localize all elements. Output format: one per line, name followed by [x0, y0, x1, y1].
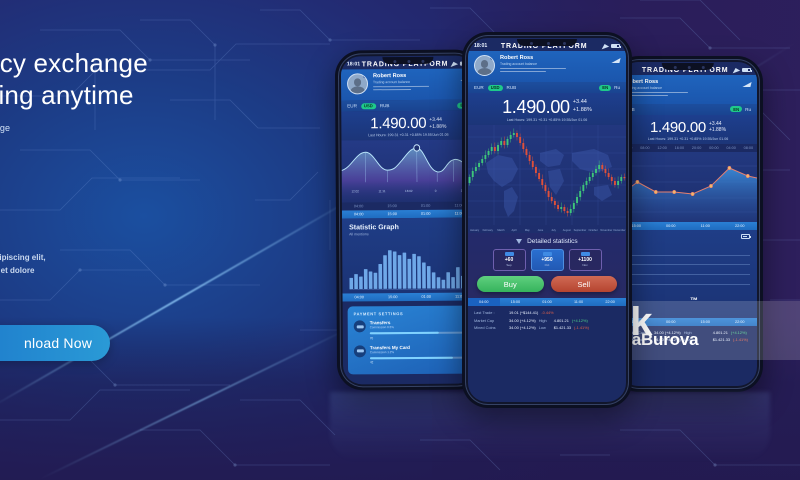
card-icon	[354, 320, 366, 332]
list-item[interactable]: Transfers Commission 0.5% 70	[354, 320, 466, 340]
avatar[interactable]	[347, 73, 368, 94]
phone-center-notch	[517, 39, 577, 46]
battery-icon	[742, 68, 751, 73]
row-value-2: $1.421.33	[554, 325, 571, 330]
last-hours: Last Hours: 199.31 +0.31 +0.85% 19.55/Ju…	[475, 118, 619, 122]
phone-right-area-chart[interactable]	[619, 152, 757, 222]
row-extra: -0.44%	[541, 310, 553, 315]
hero-lorem-line-1: , consectetur adipiscing elit,	[0, 252, 268, 264]
stat-card-sep[interactable]: +60 Sep	[493, 249, 526, 271]
axis-tick[interactable]: 22:00	[594, 298, 626, 306]
hero-copy: urrency exchange , trading anytime ons f…	[0, 48, 268, 277]
stat-card-month: Nov	[570, 263, 601, 267]
currency-rub[interactable]: RUB	[380, 103, 390, 108]
phone-right-user-header: Robert Ross Trading account balance	[619, 75, 757, 104]
phone-left[interactable]: 18:01 TRADING PLATFORM Robert Ross Tradi…	[335, 49, 483, 390]
payment-desc: Commission 1.2%	[370, 349, 466, 354]
lang-pill[interactable]: EN	[599, 85, 611, 91]
detailed-statistics-title: Detailed statistics	[468, 233, 626, 249]
currency-eur[interactable]: EUR	[347, 103, 357, 108]
payment-settings-title: PAYMENT SETTINGS	[354, 311, 466, 317]
user-name: Robert Ross	[373, 73, 469, 80]
row-label: Last Trade :	[474, 310, 506, 315]
axis-tick: 20:00	[688, 144, 705, 152]
phone-left-axis-top[interactable]: 04:00 15:00 01:00 11:00	[342, 210, 476, 219]
phone-left-user-header: Robert Ross Trading account balance	[341, 69, 475, 101]
status-icons	[732, 68, 751, 73]
stat-cards[interactable]: +60 Sep +950 Oct +1100 Nov	[468, 249, 626, 276]
row-extra: (-1.41%)	[574, 325, 589, 330]
payment-slider[interactable]	[370, 332, 466, 335]
sell-button[interactable]: Sell	[551, 276, 618, 292]
wifi-icon	[601, 43, 609, 50]
tick-label: 16:02	[395, 189, 422, 193]
tick-label: 12:02	[342, 189, 369, 193]
wifi-icon	[450, 60, 458, 67]
stat-card-month: Oct	[532, 263, 563, 267]
axis-tick[interactable]: 11:00	[688, 222, 723, 230]
row-label-2: Low	[539, 325, 551, 330]
phone-left-quote: 1.490.00 +3.44 +1.88% Last Hours: 199.31…	[341, 111, 475, 141]
price-value: 1.490.00	[370, 116, 426, 131]
lang-pill[interactable]: EN	[730, 106, 742, 112]
axis-tick[interactable]: 15:00	[375, 210, 409, 218]
headline-line-1: urrency exchange	[0, 48, 148, 78]
world-map-backdrop	[486, 149, 612, 217]
currency-eur[interactable]: EUR	[474, 85, 484, 90]
axis-tick: January	[468, 229, 481, 232]
battery-icon	[611, 44, 620, 49]
row-value: 34.00 (+4.12%)	[509, 325, 536, 330]
detail-title-text: Detailed statistics	[527, 238, 578, 245]
axis-tick: 04:00	[723, 144, 740, 152]
download-now-button[interactable]: nload Now	[0, 325, 110, 361]
axis-tick[interactable]: 04:00	[342, 210, 376, 218]
status-time: 18:01	[474, 43, 487, 49]
chart-icon	[516, 239, 522, 244]
stat-card-oct[interactable]: +950 Oct	[531, 249, 564, 271]
last-hours: Last Hours: 199.31 +0.31 +0.85% 19.55/Ju…	[348, 133, 468, 138]
axis-tick: June	[534, 229, 547, 232]
stat-card-nov[interactable]: +1100 Nov	[569, 249, 602, 271]
header-bars	[500, 68, 620, 72]
delta-pct: +1.88%	[429, 123, 446, 130]
phone-center-candlestick-chart[interactable]: January February March April May June Ju…	[468, 125, 626, 233]
row-label: Mined Coins	[474, 325, 506, 330]
axis-tick: April	[508, 229, 521, 232]
watermark-tm: ™	[690, 296, 698, 305]
send-icon[interactable]	[742, 82, 751, 87]
user-meta: Trading account balance	[373, 80, 469, 85]
axis-tick: December	[613, 229, 626, 232]
axis-tick: 15:00	[375, 202, 409, 210]
poster-canvas: urrency exchange , trading anytime ons f…	[0, 0, 800, 480]
lang-alt[interactable]: Ru	[745, 107, 751, 112]
notification-dot	[490, 55, 495, 60]
table-row: Market Cap 34.00 (+4.12%) High 4.801.21 …	[474, 316, 620, 323]
payment-value: 70	[370, 335, 466, 340]
row-label: Market Cap	[474, 318, 506, 323]
axis-tick[interactable]: 15:00	[500, 298, 532, 306]
notification-dot	[363, 73, 368, 78]
tick-label: 0	[422, 189, 449, 193]
phone-center-month-axis: January February March April May June Ju…	[468, 229, 626, 232]
headline-line-2: , trading anytime	[0, 80, 268, 112]
hero-subline-2: Mobile App	[0, 210, 268, 222]
row-label-2: High	[539, 318, 551, 323]
send-icon[interactable]	[611, 58, 620, 63]
delta-abs: +3.44	[709, 121, 726, 128]
phone-center[interactable]: 18:01 TRADING PLATFORM Robert Ross Tradi…	[462, 32, 632, 408]
axis-tick: July	[547, 229, 560, 232]
lang-alt[interactable]: Ru	[614, 85, 620, 90]
axis-tick[interactable]: 22:00	[723, 222, 758, 230]
hero-lorem: , consectetur adipiscing elit, didunt ut…	[0, 252, 268, 277]
user-name: Robert Ross	[625, 79, 751, 85]
axis-tick: 16:00	[671, 144, 688, 152]
header-bars	[625, 92, 751, 96]
phone-center-screen[interactable]: 18:01 TRADING PLATFORM Robert Ross Tradi…	[468, 38, 626, 402]
axis-tick: August	[560, 229, 573, 232]
axis-tick: 04:00	[342, 202, 376, 210]
phone-center-axis[interactable]: 04:00 15:00 01:00 11:00 22:00	[468, 298, 626, 306]
axis-tick[interactable]: 01:00	[531, 298, 563, 306]
axis-tick: September	[573, 229, 586, 232]
phone-right-list-header: ph	[619, 230, 757, 240]
chip-icon	[505, 252, 514, 256]
phone-right-quote: 1.490.00 +3.44 +1.88% Last Hours: 199.31…	[619, 115, 757, 144]
row-extra: (+4.12%)	[572, 318, 588, 323]
card-icon	[354, 345, 366, 357]
row-value-2: 4.801.21	[554, 318, 569, 323]
axis-tick: 01:00	[409, 202, 443, 210]
chip-icon	[543, 252, 552, 256]
phone-right-currency-bar[interactable]: RUB EN Ru	[619, 104, 757, 115]
currency-rub[interactable]: RUB	[507, 85, 517, 90]
user-name: Robert Ross	[500, 55, 620, 61]
avatar[interactable]	[474, 55, 495, 76]
currency-usd-selected[interactable]: USD	[361, 103, 376, 109]
phone-left-statistic-section: Statistic Graph All mentions	[342, 218, 477, 294]
phone-center-user-header: Robert Ross Trading account balance	[468, 51, 626, 82]
table-row: Last Trade : 19.01 (^$144.41) -0.44%	[474, 309, 620, 316]
delta-abs: +3.44	[573, 99, 592, 107]
axis-tick[interactable]: 00:00	[654, 222, 689, 230]
axis-tick: May	[521, 229, 534, 232]
table-row: Mined Coins 34.00 (+4.12%) Low $1.421.33…	[474, 324, 620, 331]
last-hours: Last Hours: 199.31 +0.31 +0.85% 19.55/Ju…	[626, 137, 750, 141]
chip-icon	[581, 252, 590, 256]
user-meta: Trading account balance	[625, 86, 751, 90]
price-value: 1.490.00	[650, 120, 706, 135]
axis-tick: October	[587, 229, 600, 232]
hero-subline: ons for exchange	[0, 123, 268, 133]
hero-lorem-line-2: didunt ut labore et dolore	[0, 265, 268, 277]
phone-left-notch	[382, 57, 433, 64]
status-time: 18:01	[347, 61, 360, 67]
phone-center-currency-bar[interactable]: EUR USD RUB EN Ru	[468, 82, 626, 93]
phone-left-bar-chart[interactable]	[342, 239, 476, 294]
buy-button[interactable]: Buy	[477, 276, 544, 292]
battery-icon	[741, 234, 750, 239]
axis-tick: 00:00	[705, 144, 722, 152]
axis-tick: 12:00	[654, 144, 671, 152]
currency-usd-selected[interactable]: USD	[488, 85, 503, 91]
payment-value: 42	[370, 360, 466, 365]
list-item[interactable]: Transfers My Card Commission 1.2% 42	[354, 344, 466, 364]
phone-center-detail-section: Detailed statistics +60 Sep +950 Oct	[468, 233, 626, 298]
hero-headline-2: I/UX	[0, 177, 268, 208]
axis-tick: 08:00	[740, 144, 757, 152]
phone-right-axis-top: 04:00 08:00 12:00 16:00 20:00 00:00 04:0…	[619, 144, 757, 152]
tick-label: 11:11	[369, 189, 396, 193]
page-title: urrency exchange , trading anytime	[0, 48, 268, 111]
delta-pct: +1.88%	[709, 127, 726, 134]
status-icons	[601, 44, 620, 49]
axis-tick[interactable]: 01:00	[409, 210, 443, 218]
phone-center-table: Last Trade : 19.01 (^$144.41) -0.44% Mar…	[468, 306, 626, 336]
payment-settings-card[interactable]: PAYMENT SETTINGS Transfers Commission 0.…	[348, 306, 472, 375]
user-meta: Trading account balance	[500, 62, 620, 66]
phone-left-screen[interactable]: 18:01 TRADING PLATFORM Robert Ross Tradi…	[341, 56, 477, 385]
phone-right-lines	[619, 240, 757, 300]
axis-tick-active[interactable]: 04:00	[468, 298, 500, 306]
row-value: 34.00 (+4.12%)	[509, 318, 536, 323]
axis-tick: March	[494, 229, 507, 232]
stat-card-month: Sep	[494, 263, 525, 267]
wifi-icon	[732, 67, 740, 74]
axis-tick: 08:00	[636, 144, 653, 152]
price-value: 1.490.00	[502, 98, 570, 116]
delta-pct: +1.88%	[573, 107, 592, 115]
statistic-graph-title: Statistic Graph	[342, 218, 476, 232]
row-value: 19.01 (^$144.41)	[509, 310, 538, 315]
phone-right-axis-mid[interactable]: 15:00 00:00 11:00 22:00	[619, 222, 757, 230]
axis-tick: February	[481, 229, 494, 232]
phone-right-notch	[662, 63, 714, 70]
payment-slider[interactable]	[370, 356, 466, 359]
phone-left-line-chart[interactable]: 12:02 11:11 16:02 0 16	[341, 140, 475, 203]
payment-desc: Commission 0.5%	[370, 325, 466, 330]
axis-tick: November	[600, 229, 613, 232]
phone-center-quote: 1.490.00 +3.44 +1.88% Last Hours: 199.31…	[468, 93, 626, 125]
trade-actions[interactable]: Buy Sell	[468, 276, 626, 298]
axis-tick[interactable]: 11:00	[563, 298, 595, 306]
header-bars	[373, 86, 469, 91]
